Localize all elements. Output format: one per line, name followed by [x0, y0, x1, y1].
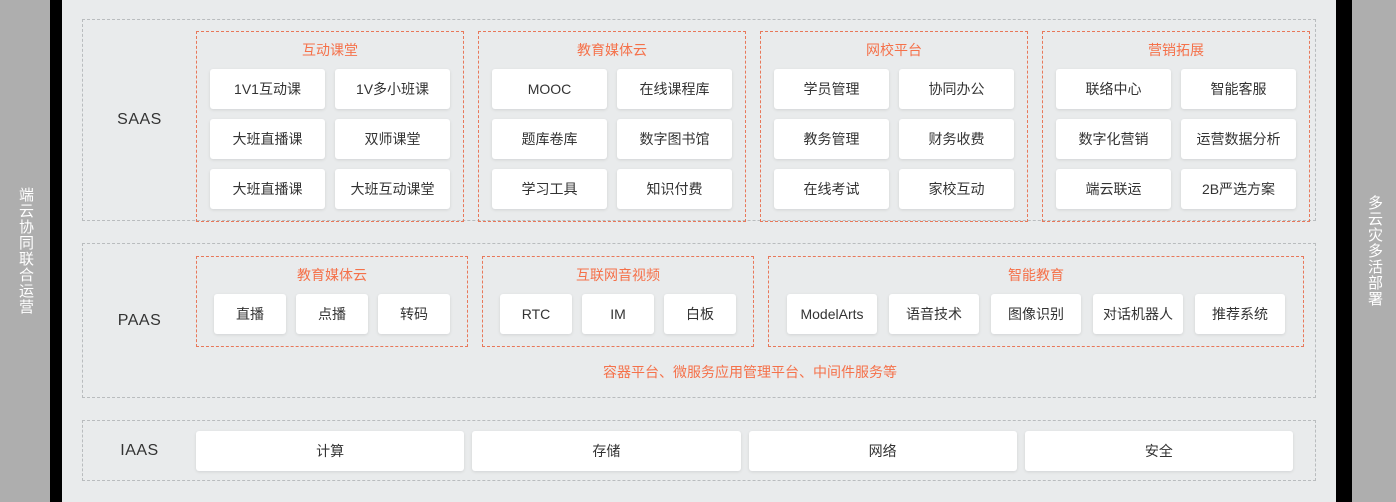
layer-saas: SAAS 互动课堂 1V1互动课 1V多小班课 大班直播课 双师课堂 大班直播课…: [82, 19, 1316, 221]
tile[interactable]: 知识付费: [617, 169, 732, 209]
group-title: 互动课堂: [302, 40, 358, 60]
tile[interactable]: 教务管理: [774, 119, 889, 159]
tile[interactable]: 运营数据分析: [1181, 119, 1296, 159]
tile[interactable]: 点播: [296, 294, 368, 334]
tile[interactable]: 转码: [378, 294, 450, 334]
tile[interactable]: 2B严选方案: [1181, 169, 1296, 209]
group-saas-education-media-cloud: 教育媒体云 MOOC 在线课程库 题库卷库 数字图书馆 学习工具 知识付费: [478, 31, 746, 222]
tile[interactable]: 推荐系统: [1195, 294, 1285, 334]
layer-iaas: IAAS 计算 存储 网络 安全: [82, 420, 1316, 481]
tile[interactable]: 直播: [214, 294, 286, 334]
group-saas-online-school-platform: 网校平台 学员管理 协同办公 教务管理 财务收费 在线考试 家校互动: [760, 31, 1028, 222]
tile[interactable]: 大班直播课: [210, 119, 325, 159]
tile[interactable]: 在线考试: [774, 169, 889, 209]
tile[interactable]: 白板: [664, 294, 736, 334]
tile[interactable]: 1V多小班课: [335, 69, 450, 109]
saas-group-row: 互动课堂 1V1互动课 1V多小班课 大班直播课 双师课堂 大班直播课 大班互动…: [196, 20, 1321, 222]
layer-paas: PAAS 教育媒体云 直播 点播 转码 互联网音视频 RTC: [82, 243, 1316, 398]
iaas-tile-row: 计算 存储 网络 安全: [196, 421, 1315, 480]
group-tiles: 1V1互动课 1V多小班课 大班直播课 双师课堂 大班直播课 大班互动课堂: [209, 69, 451, 209]
tile[interactable]: 语音技术: [889, 294, 979, 334]
group-title: 营销拓展: [1148, 40, 1204, 60]
tile[interactable]: 题库卷库: [492, 119, 607, 159]
tile[interactable]: 财务收费: [899, 119, 1014, 159]
tile[interactable]: 大班互动课堂: [335, 169, 450, 209]
group-tiles: ModelArts 语音技术 图像识别 对话机器人 推荐系统: [787, 294, 1285, 334]
tile[interactable]: 在线课程库: [617, 69, 732, 109]
group-title: 互联网音视频: [576, 265, 660, 285]
layer-label-iaas: IAAS: [83, 421, 196, 480]
tile[interactable]: RTC: [500, 294, 572, 334]
left-rail-divider: [50, 0, 62, 502]
tile[interactable]: 存储: [472, 431, 740, 471]
group-title: 智能教育: [1008, 265, 1064, 285]
tile[interactable]: 安全: [1025, 431, 1293, 471]
tile[interactable]: 大班直播课: [210, 169, 325, 209]
tile[interactable]: 网络: [749, 431, 1017, 471]
group-paas-education-media-cloud: 教育媒体云 直播 点播 转码: [196, 256, 468, 347]
group-tiles: 学员管理 协同办公 教务管理 财务收费 在线考试 家校互动: [773, 69, 1015, 209]
layer-body-saas: 互动课堂 1V1互动课 1V多小班课 大班直播课 双师课堂 大班直播课 大班互动…: [196, 20, 1321, 220]
tile[interactable]: 联络中心: [1056, 69, 1171, 109]
paas-group-row: 教育媒体云 直播 点播 转码 互联网音视频 RTC IM 白板: [196, 244, 1315, 347]
architecture-diagram: 端云协同联合运营 多云灾多活部署 SAAS 互动课堂 1V1互动课 1V多小班课…: [0, 0, 1396, 502]
tile[interactable]: 学员管理: [774, 69, 889, 109]
tile[interactable]: 计算: [196, 431, 464, 471]
layer-label-saas: SAAS: [83, 20, 196, 220]
group-saas-interactive-classroom: 互动课堂 1V1互动课 1V多小班课 大班直播课 双师课堂 大班直播课 大班互动…: [196, 31, 464, 222]
tile[interactable]: 学习工具: [492, 169, 607, 209]
group-title: 教育媒体云: [297, 265, 367, 285]
paas-footer-note: 容器平台、微服务应用管理平台、中间件服务等: [196, 347, 1315, 397]
left-rail-label: 端云协同联合运营: [0, 0, 50, 502]
group-title: 教育媒体云: [577, 40, 647, 60]
group-tiles: MOOC 在线课程库 题库卷库 数字图书馆 学习工具 知识付费: [491, 69, 733, 209]
tile[interactable]: 1V1互动课: [210, 69, 325, 109]
tile[interactable]: MOOC: [492, 69, 607, 109]
tile[interactable]: 双师课堂: [335, 119, 450, 159]
right-rail-divider: [1336, 0, 1352, 502]
group-tiles: 联络中心 智能客服 数字化营销 运营数据分析 端云联运 2B严选方案: [1055, 69, 1297, 209]
tile[interactable]: 协同办公: [899, 69, 1014, 109]
group-saas-marketing-expansion: 营销拓展 联络中心 智能客服 数字化营销 运营数据分析 端云联运 2B严选方案: [1042, 31, 1310, 222]
tile[interactable]: 对话机器人: [1093, 294, 1183, 334]
layer-body-paas: 教育媒体云 直播 点播 转码 互联网音视频 RTC IM 白板: [196, 244, 1315, 397]
tile[interactable]: 端云联运: [1056, 169, 1171, 209]
tile[interactable]: 家校互动: [899, 169, 1014, 209]
group-tiles: RTC IM 白板: [500, 294, 736, 334]
tile[interactable]: 图像识别: [991, 294, 1081, 334]
tile[interactable]: ModelArts: [787, 294, 877, 334]
layer-label-paas: PAAS: [83, 244, 196, 397]
tile[interactable]: 数字化营销: [1056, 119, 1171, 159]
tile[interactable]: IM: [582, 294, 654, 334]
tile[interactable]: 智能客服: [1181, 69, 1296, 109]
group-paas-internet-audio-video: 互联网音视频 RTC IM 白板: [482, 256, 754, 347]
group-tiles: 直播 点播 转码: [214, 294, 450, 334]
group-paas-intelligent-education: 智能教育 ModelArts 语音技术 图像识别 对话机器人 推荐系统: [768, 256, 1304, 347]
right-rail-label: 多云灾多活部署: [1352, 0, 1396, 502]
diagram-stage: SAAS 互动课堂 1V1互动课 1V多小班课 大班直播课 双师课堂 大班直播课…: [62, 0, 1336, 502]
group-title: 网校平台: [866, 40, 922, 60]
tile[interactable]: 数字图书馆: [617, 119, 732, 159]
